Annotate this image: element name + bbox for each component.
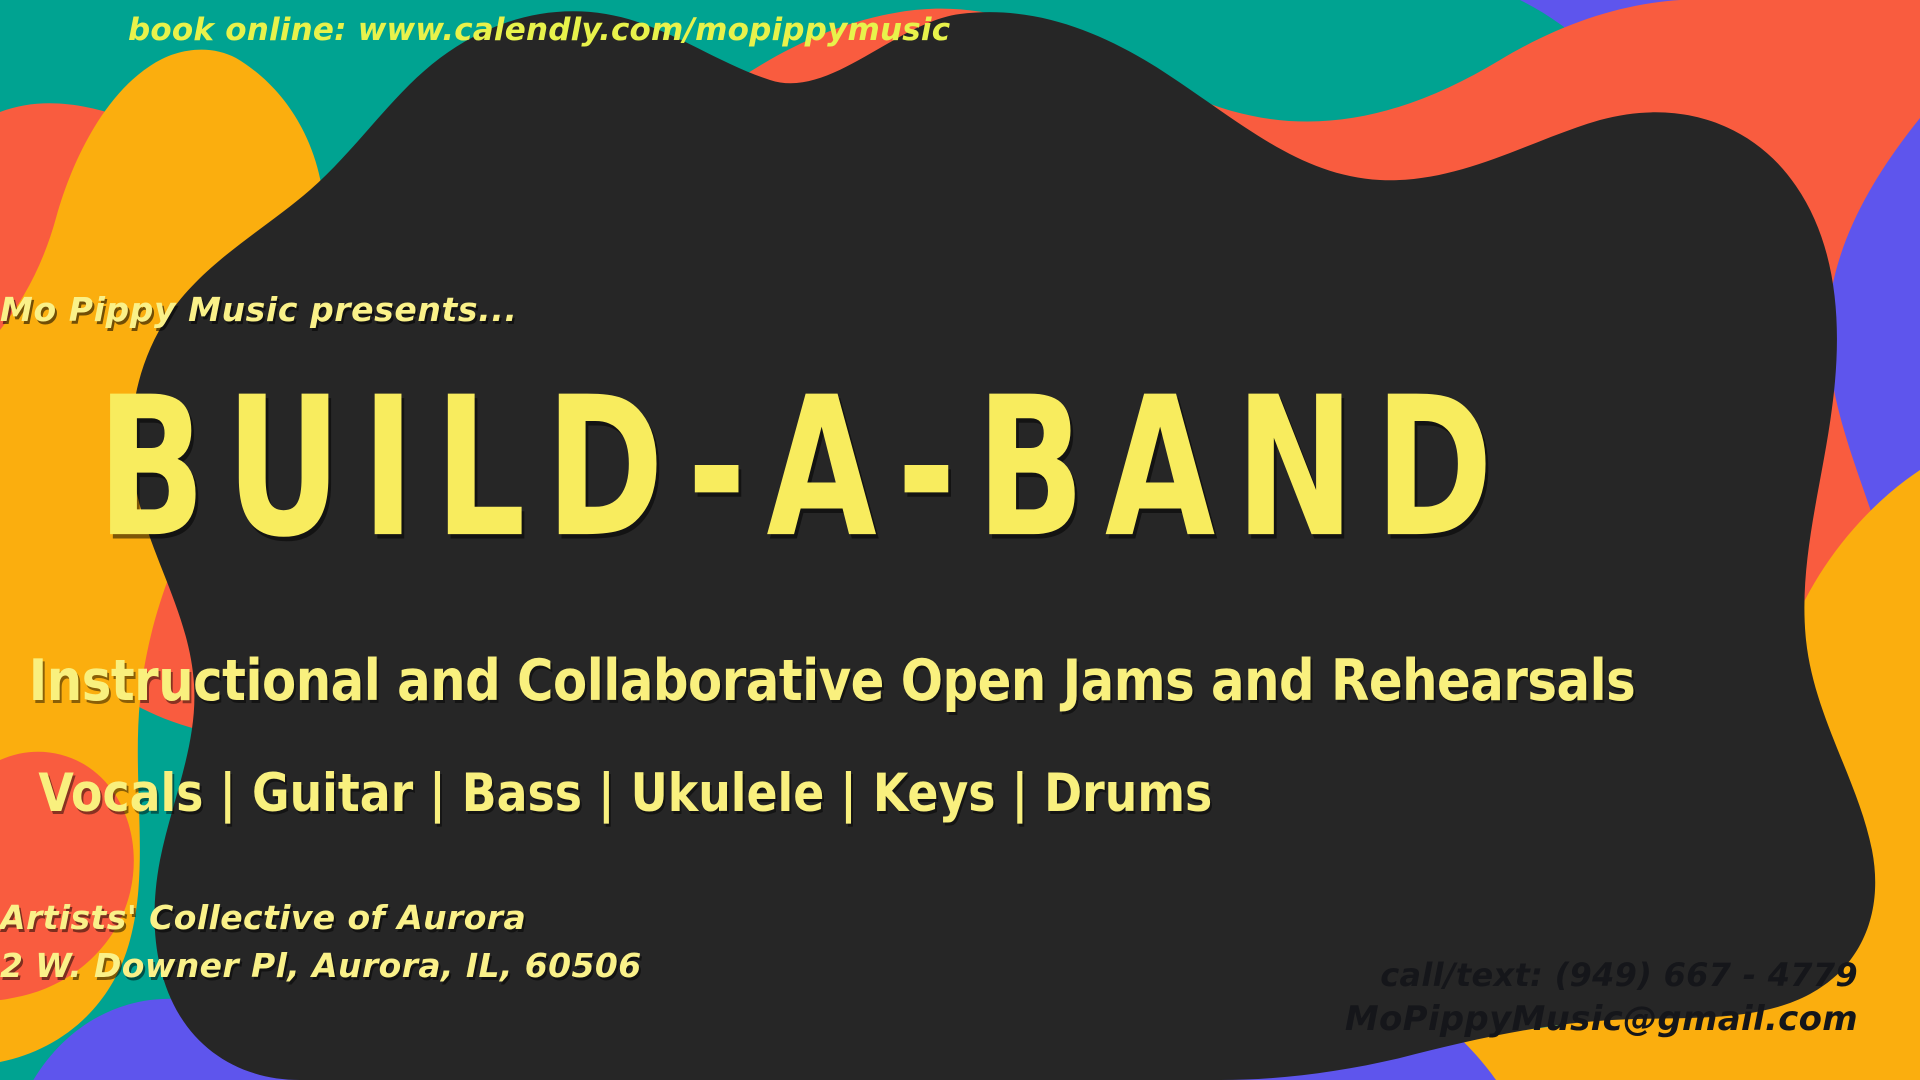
presenter-line: Mo Pippy Music presents... [0,290,1920,329]
contact-block: call/text: (949) 667 - 4779 MoPippyMusic… [1345,953,1858,1042]
flyer-canvas: book online: www.calendly.com/mopippymus… [0,0,1920,1080]
venue-name: Artists' Collective of Aurora [0,898,1920,937]
page-title: BUILD-A-BAND [77,372,1843,565]
contact-phone[interactable]: call/text: (949) 667 - 4779 [1345,953,1858,997]
booking-link[interactable]: book online: www.calendly.com/mopippymus… [128,12,950,48]
flyer-content: book online: www.calendly.com/mopippymus… [0,0,1920,1080]
contact-email[interactable]: MoPippyMusic@gmail.com [1345,997,1858,1042]
instruments-list: Vocals | Guitar | Bass | Ukulele | Keys … [38,763,1881,824]
tagline: Instructional and Collaborative Open Jam… [29,648,1891,714]
